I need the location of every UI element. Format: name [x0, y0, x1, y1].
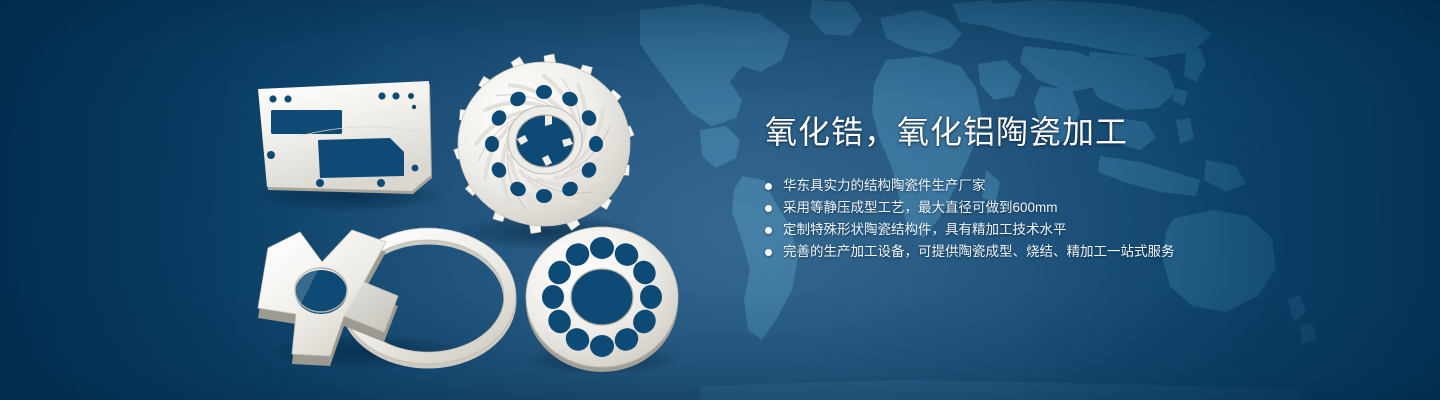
banner-headline: 氧化锆，氧化铝陶瓷加工 — [765, 112, 1365, 152]
feature-label: 完善的生产加工设备，可提供陶瓷成型、烧结、精加工一站式服务 — [783, 241, 1175, 263]
feature-item: 华东具实力的结构陶瓷件生产厂家 — [765, 175, 1365, 197]
feature-label: 定制特殊形状陶瓷结构件，具有精加工技术水平 — [783, 219, 1067, 241]
ceramic-perforated-disc — [526, 227, 678, 372]
ceramic-impeller — [453, 54, 635, 234]
banner-text-column: 氧化锆，氧化铝陶瓷加工 华东具实力的结构陶瓷件生产厂家 采用等静压成型工艺，最大… — [765, 112, 1365, 263]
feature-item: 定制特殊形状陶瓷结构件，具有精加工技术水平 — [765, 219, 1365, 241]
feature-label: 采用等静压成型工艺，最大直径可做到600mm — [783, 197, 1058, 219]
feature-label: 华东具实力的结构陶瓷件生产厂家 — [783, 175, 986, 197]
ceramic-plate — [258, 81, 432, 194]
bullet-dot-icon — [765, 205, 772, 212]
feature-item: 完善的生产加工设备，可提供陶瓷成型、烧结、精加工一站式服务 — [765, 241, 1365, 263]
bullet-dot-icon — [765, 183, 772, 190]
hero-banner: 氧化锆，氧化铝陶瓷加工 华东具实力的结构陶瓷件生产厂家 采用等静压成型工艺，最大… — [0, 0, 1440, 400]
feature-item: 采用等静压成型工艺，最大直径可做到600mm — [765, 197, 1365, 219]
bullet-dot-icon — [765, 249, 772, 256]
bullet-dot-icon — [765, 227, 772, 234]
banner-feature-list: 华东具实力的结构陶瓷件生产厂家 采用等静压成型工艺，最大直径可做到600mm 定… — [765, 175, 1365, 263]
